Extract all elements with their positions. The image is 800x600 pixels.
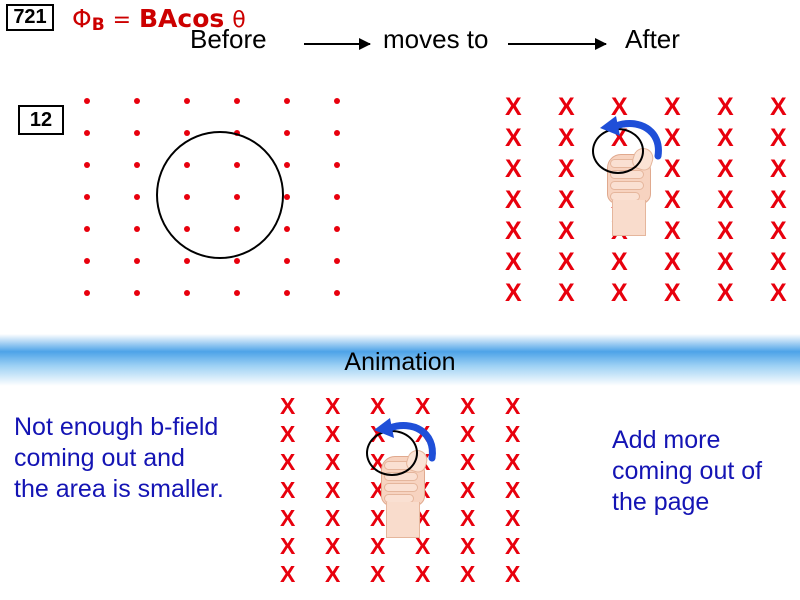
field-x: X bbox=[505, 507, 520, 530]
right-arrow-icon-1 bbox=[304, 43, 370, 45]
field-x: X bbox=[280, 535, 295, 558]
field-dot bbox=[234, 98, 240, 104]
field-x: X bbox=[558, 281, 575, 306]
field-x: X bbox=[717, 95, 734, 120]
field-x: X bbox=[460, 451, 475, 474]
current-loop-icon-before bbox=[156, 131, 284, 259]
field-x: X bbox=[505, 157, 522, 182]
field-x: X bbox=[280, 423, 295, 446]
field-x: X bbox=[505, 423, 520, 446]
field-dot bbox=[134, 194, 140, 200]
field-x: X bbox=[505, 250, 522, 275]
field-dot bbox=[334, 290, 340, 296]
field-dot bbox=[134, 226, 140, 232]
hand-wrist bbox=[612, 200, 646, 236]
field-x: X bbox=[505, 479, 520, 502]
field-x: X bbox=[280, 507, 295, 530]
hand-wrist bbox=[386, 502, 420, 538]
field-x: X bbox=[664, 281, 681, 306]
field-x: X bbox=[505, 451, 520, 474]
field-dot bbox=[334, 130, 340, 136]
field-x: X bbox=[460, 395, 475, 418]
label-after: After bbox=[625, 24, 680, 55]
field-x: X bbox=[664, 157, 681, 182]
field-dot bbox=[84, 258, 90, 264]
field-dot bbox=[84, 98, 90, 104]
field-x: X bbox=[325, 535, 340, 558]
field-x: X bbox=[370, 563, 385, 586]
field-dot bbox=[334, 258, 340, 264]
field-dot bbox=[284, 194, 290, 200]
field-x: X bbox=[770, 219, 787, 244]
curl-arrow-icon-bottom bbox=[360, 414, 440, 474]
curl-arrow-icon-after bbox=[586, 112, 666, 172]
field-x: X bbox=[325, 451, 340, 474]
field-x: X bbox=[770, 95, 787, 120]
field-x: X bbox=[460, 563, 475, 586]
field-dot bbox=[84, 162, 90, 168]
field-x: X bbox=[505, 188, 522, 213]
field-dot bbox=[234, 258, 240, 264]
slide-number-badge: 721 bbox=[6, 4, 54, 31]
field-dot bbox=[134, 130, 140, 136]
field-x: X bbox=[717, 157, 734, 182]
field-x: X bbox=[505, 395, 520, 418]
right-arrow-icon-2 bbox=[508, 43, 606, 45]
field-x: X bbox=[664, 126, 681, 151]
field-x: X bbox=[717, 188, 734, 213]
field-dot bbox=[134, 258, 140, 264]
field-x: X bbox=[325, 479, 340, 502]
field-x: X bbox=[664, 95, 681, 120]
field-x: X bbox=[770, 126, 787, 151]
field-x: X bbox=[460, 507, 475, 530]
field-x: X bbox=[611, 250, 628, 275]
field-dot bbox=[284, 162, 290, 168]
field-x: X bbox=[505, 95, 522, 120]
field-x: X bbox=[664, 188, 681, 213]
field-x: X bbox=[325, 507, 340, 530]
ba-term: BA bbox=[139, 4, 177, 33]
field-x: X bbox=[460, 535, 475, 558]
caption-left: Not enough b-field coming out and the ar… bbox=[14, 412, 224, 505]
field-x: X bbox=[717, 219, 734, 244]
field-dot bbox=[84, 290, 90, 296]
field-x: X bbox=[370, 535, 385, 558]
field-dot bbox=[284, 290, 290, 296]
field-x: X bbox=[280, 479, 295, 502]
hand-finger bbox=[610, 181, 644, 190]
field-dot bbox=[84, 226, 90, 232]
field-dot bbox=[134, 162, 140, 168]
field-dot bbox=[234, 290, 240, 296]
field-x: X bbox=[770, 157, 787, 182]
field-x: X bbox=[460, 423, 475, 446]
field-dot bbox=[184, 290, 190, 296]
field-dot bbox=[334, 98, 340, 104]
field-x: X bbox=[717, 281, 734, 306]
field-x: X bbox=[717, 126, 734, 151]
field-x: X bbox=[280, 395, 295, 418]
field-x: X bbox=[558, 95, 575, 120]
figure-number-badge: 12 bbox=[18, 105, 64, 135]
phi-symbol: Φ bbox=[72, 4, 92, 33]
slide-page: 721 ΦB = BAcos θ Before moves to After 1… bbox=[0, 0, 800, 600]
hand-finger bbox=[384, 483, 418, 492]
animation-label: Animation bbox=[0, 348, 800, 377]
field-x: X bbox=[505, 126, 522, 151]
field-dot bbox=[184, 258, 190, 264]
field-x: X bbox=[280, 563, 295, 586]
field-dot bbox=[334, 162, 340, 168]
field-x: X bbox=[460, 479, 475, 502]
field-x: X bbox=[325, 395, 340, 418]
field-x: X bbox=[558, 250, 575, 275]
field-x: X bbox=[505, 281, 522, 306]
field-x: X bbox=[415, 535, 430, 558]
caption-right: Add more coming out of the page bbox=[612, 425, 792, 518]
field-dot bbox=[134, 290, 140, 296]
field-x: X bbox=[558, 219, 575, 244]
field-x: X bbox=[415, 563, 430, 586]
field-dot bbox=[334, 226, 340, 232]
field-dot bbox=[284, 258, 290, 264]
equals-sign: = bbox=[113, 8, 131, 33]
label-moves-to: moves to bbox=[383, 24, 489, 55]
field-x: X bbox=[505, 535, 520, 558]
field-x: X bbox=[505, 219, 522, 244]
field-x: X bbox=[558, 126, 575, 151]
field-dot bbox=[84, 130, 90, 136]
field-dot bbox=[134, 98, 140, 104]
field-x: X bbox=[325, 563, 340, 586]
field-x: X bbox=[558, 188, 575, 213]
field-x: X bbox=[717, 250, 734, 275]
field-x: X bbox=[770, 281, 787, 306]
field-x: X bbox=[505, 563, 520, 586]
field-dot bbox=[284, 130, 290, 136]
field-dot bbox=[184, 98, 190, 104]
field-x: X bbox=[664, 219, 681, 244]
field-x: X bbox=[664, 250, 681, 275]
field-dot bbox=[334, 194, 340, 200]
field-x: X bbox=[325, 423, 340, 446]
field-dot bbox=[84, 194, 90, 200]
field-x: X bbox=[611, 281, 628, 306]
field-x: X bbox=[770, 188, 787, 213]
field-dot bbox=[284, 226, 290, 232]
field-x: X bbox=[558, 157, 575, 182]
phi-subscript: B bbox=[92, 15, 105, 35]
field-x: X bbox=[770, 250, 787, 275]
field-dot bbox=[284, 98, 290, 104]
field-x: X bbox=[280, 451, 295, 474]
field-dot bbox=[184, 130, 190, 136]
label-before: Before bbox=[190, 24, 267, 55]
